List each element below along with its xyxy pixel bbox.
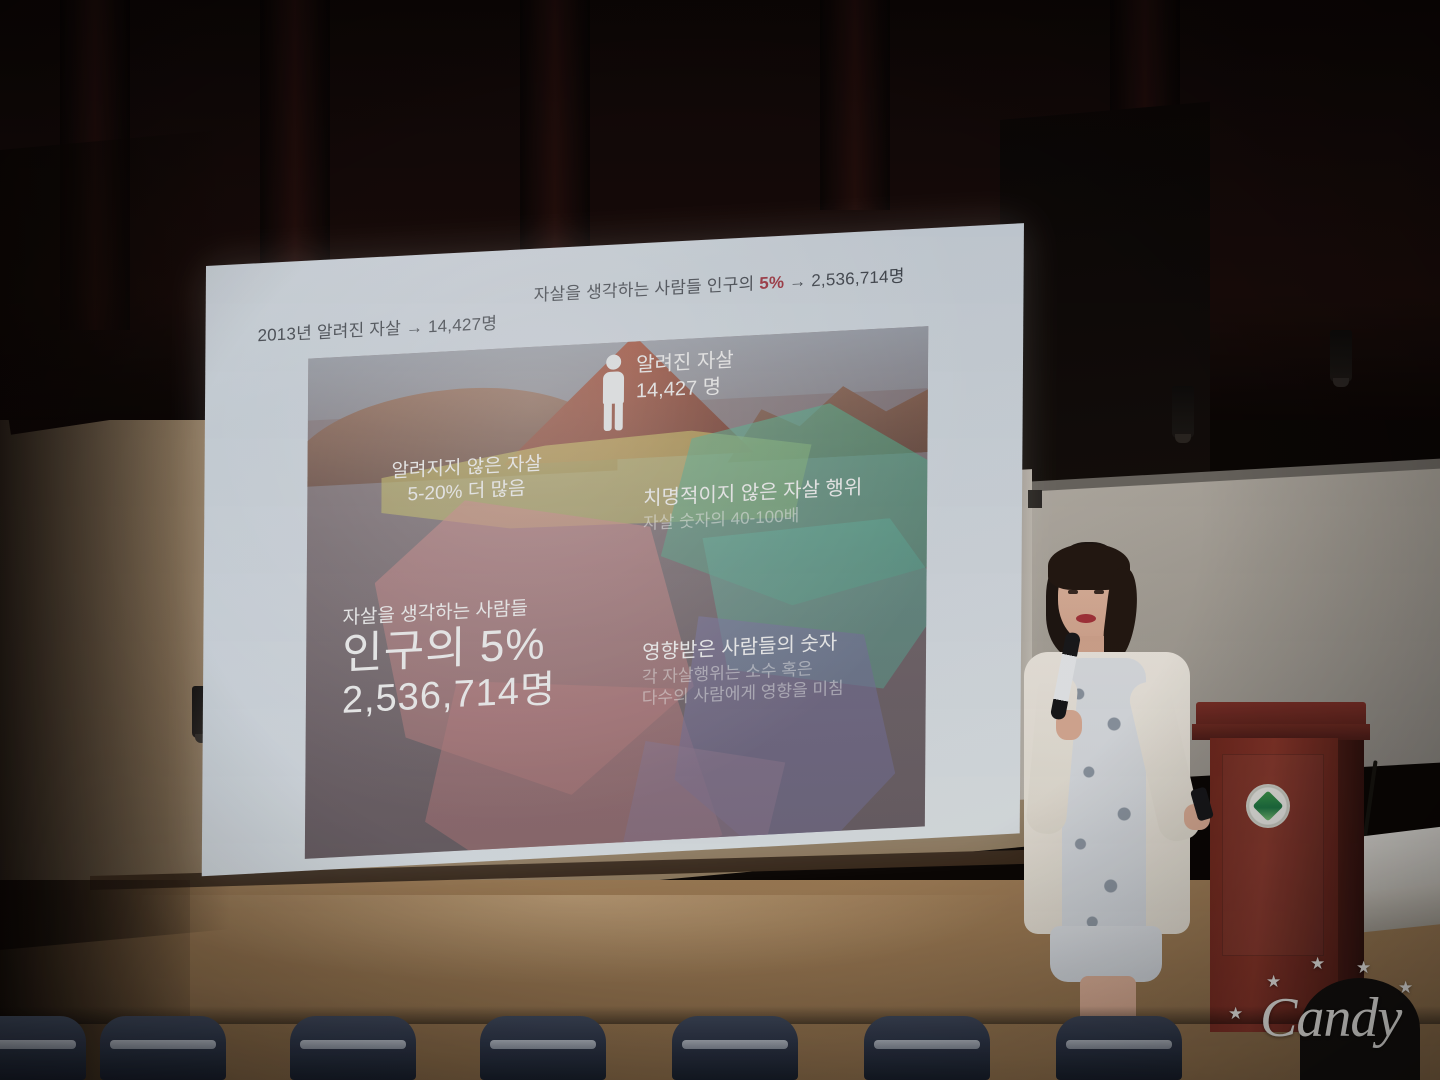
- callout-unknown-suicides: 알려지지 않은 자살 5-20% 더 많음: [391, 452, 542, 509]
- callout-affected-people: 영향받은 사람들의 숫자 각 자살행위는 소수 혹은 다수의 사람에게 영향을 …: [642, 631, 844, 711]
- podium-emblem-icon: [1246, 784, 1290, 828]
- seat-stripe: [490, 1040, 596, 1049]
- watermark-text: Candy: [1260, 986, 1401, 1050]
- presenter-eye-left: [1068, 590, 1078, 594]
- emblem-diamond-icon: [1252, 790, 1283, 821]
- curtain-fold: [260, 0, 330, 290]
- seat-stripe: [300, 1040, 406, 1049]
- seat-stripe: [0, 1040, 76, 1049]
- presenter-lips: [1076, 614, 1096, 623]
- audience-seating-row: [0, 1016, 1440, 1080]
- curtain-fold: [60, 0, 130, 330]
- callout-ideation: 자살을 생각하는 사람들 인구의 5% 2,536,714명: [342, 596, 557, 724]
- person-head: [606, 354, 621, 370]
- stage-light-icon: [1172, 386, 1194, 438]
- board-clip-icon: [1028, 490, 1042, 508]
- curtain-fold: [520, 0, 590, 250]
- presenter-dress-hem: [1050, 926, 1162, 982]
- iceberg-illustration: 알려진 자살 14,427 명 알려지지 않은 자살 5-20% 더 많음 치명…: [305, 326, 928, 859]
- seat: [1056, 1016, 1182, 1080]
- header-ideation-suffix: → 2,536,714명: [784, 266, 904, 291]
- candy-watermark: ★ ★ ★ ★ ★ Candy: [1246, 946, 1440, 1066]
- photo-scene: 2013년 알려진 자살 → 14,427명 자살을 생각하는 사람들 인구의 …: [0, 0, 1440, 1080]
- person-leg-left: [604, 403, 612, 431]
- person-pictogram-icon: [600, 354, 627, 431]
- seat: [672, 1016, 798, 1080]
- seat: [0, 1016, 86, 1080]
- seat-stripe: [874, 1040, 980, 1049]
- seat: [864, 1016, 990, 1080]
- header-ideation-accent: 5%: [759, 273, 784, 293]
- stage-light-icon: [1330, 330, 1352, 382]
- header-line-ideation: 자살을 생각하는 사람들 인구의 5% → 2,536,714명: [534, 261, 905, 305]
- header-line-known: 2013년 알려진 자살 → 14,427명: [257, 309, 497, 347]
- seat: [480, 1016, 606, 1080]
- person-leg-right: [615, 402, 623, 430]
- curtain-fold: [820, 0, 890, 210]
- person-torso: [603, 371, 624, 404]
- seat-stripe: [682, 1040, 788, 1049]
- presenter-figure: [1018, 540, 1198, 1040]
- seat: [290, 1016, 416, 1080]
- callout-known-value: 14,427 명: [636, 374, 734, 405]
- seat-stripe: [110, 1040, 216, 1049]
- watermark-star-icon: ★: [1310, 954, 1325, 974]
- seat: [100, 1016, 226, 1080]
- watermark-star-icon: ★: [1356, 958, 1371, 978]
- projected-slide: 2013년 알려진 자살 → 14,427명 자살을 생각하는 사람들 인구의 …: [202, 223, 1024, 876]
- seat-stripe: [1066, 1040, 1172, 1049]
- header-ideation-prefix: 자살을 생각하는 사람들 인구의: [534, 274, 760, 305]
- callout-known-suicides: 알려진 자살 14,427 명: [636, 348, 734, 404]
- watermark-star-icon: ★: [1228, 1004, 1243, 1024]
- presenter-eye-right: [1094, 590, 1104, 594]
